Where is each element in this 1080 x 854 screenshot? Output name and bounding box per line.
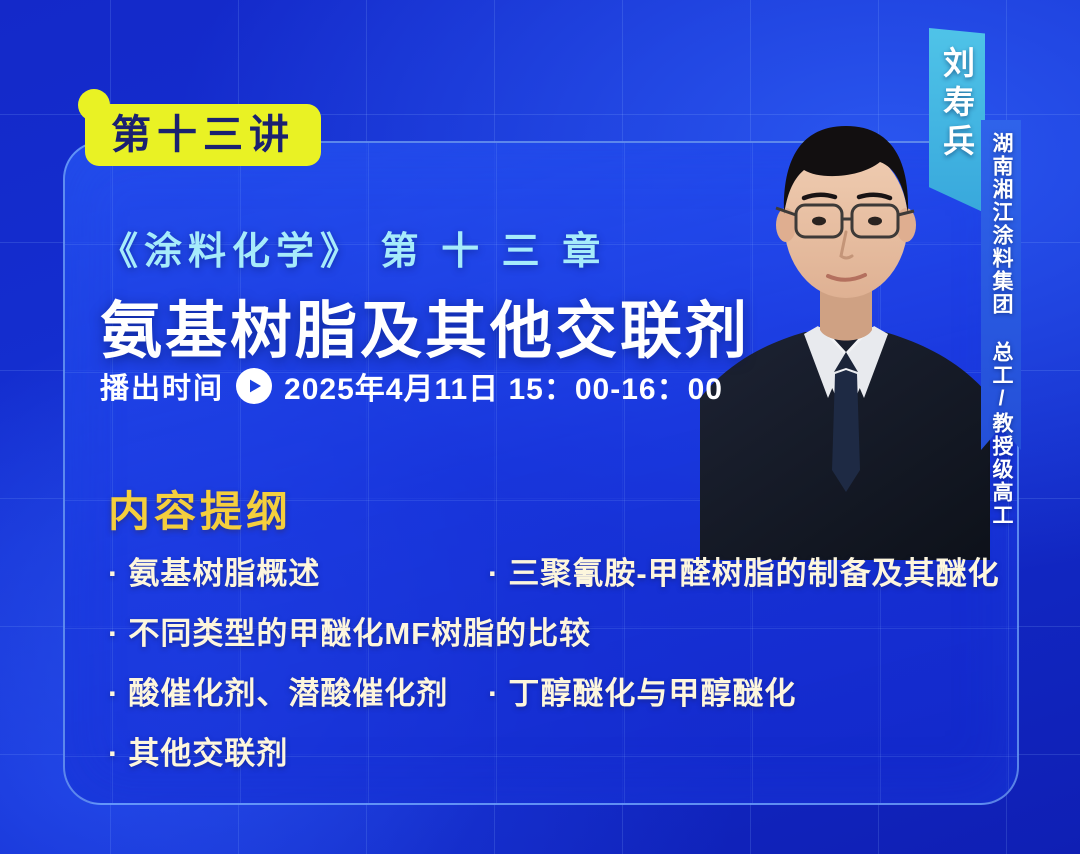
broadcast-label: 播出时间 [100,365,224,407]
bullet-icon: · [108,556,119,591]
lecture-badge: 第十三讲 [85,104,321,166]
speaker-name: 刘寿兵 [934,46,980,163]
outline-item: ·不同类型的甲醚化MF树脂的比较 [108,608,488,653]
outline-item: ·其他交联剂 [108,728,488,773]
outline-heading: 内容提纲 [108,478,292,539]
outline-item-label: 丁醇醚化与甲醇醚化 [508,676,796,711]
outline-item: ·三聚氰胺-甲醛树脂的制备及其醚化 [488,548,1000,593]
course-subtitle: 《涂料化学》 第 十 三 章 [100,220,606,275]
outline-row: ·其他交联剂 [108,728,998,773]
outline-row: ·酸催化剂、潜酸催化剂 ·丁醇醚化与甲醇醚化 [108,668,998,713]
poster-root: 第十三讲 《涂料化学》 第 十 三 章 氨基树脂及其他交联剂 播出时间 2025… [0,0,1080,854]
outline-list: ·氨基树脂概述 ·三聚氰胺-甲醛树脂的制备及其醚化 ·不同类型的甲醚化MF树脂的… [108,548,998,788]
play-circle-icon [236,368,272,404]
bullet-icon: · [108,736,119,771]
outline-item: ·丁醇醚化与甲醇醚化 [488,668,998,713]
bullet-icon: · [108,616,119,651]
outline-item: ·氨基树脂概述 [108,548,488,593]
page-title: 氨基树脂及其他交联剂 [100,280,750,370]
bullet-icon: · [108,676,119,711]
bullet-icon: · [488,556,499,591]
outline-row: ·不同类型的甲醚化MF树脂的比较 [108,608,998,653]
outline-item-label: 氨基树脂概述 [128,556,320,591]
outline-item: ·酸催化剂、潜酸催化剂 [108,668,488,713]
bullet-icon: · [488,676,499,711]
lecture-badge-label: 第十三讲 [111,115,295,155]
broadcast-time: 2025年4月11日 15：00-16：00 [284,364,723,408]
outline-item-label: 三聚氰胺-甲醛树脂的制备及其醚化 [508,556,999,591]
speaker-credentials: 湖南湘江涂料集团 总工/教授级高工 [986,132,1016,527]
outline-row: ·氨基树脂概述 ·三聚氰胺-甲醛树脂的制备及其醚化 [108,548,998,593]
outline-item-label: 不同类型的甲醚化MF树脂的比较 [128,616,591,651]
broadcast-row: 播出时间 2025年4月11日 15：00-16：00 [100,364,723,408]
outline-item-label: 酸催化剂、潜酸催化剂 [128,676,448,711]
outline-item-label: 其他交联剂 [128,736,288,771]
